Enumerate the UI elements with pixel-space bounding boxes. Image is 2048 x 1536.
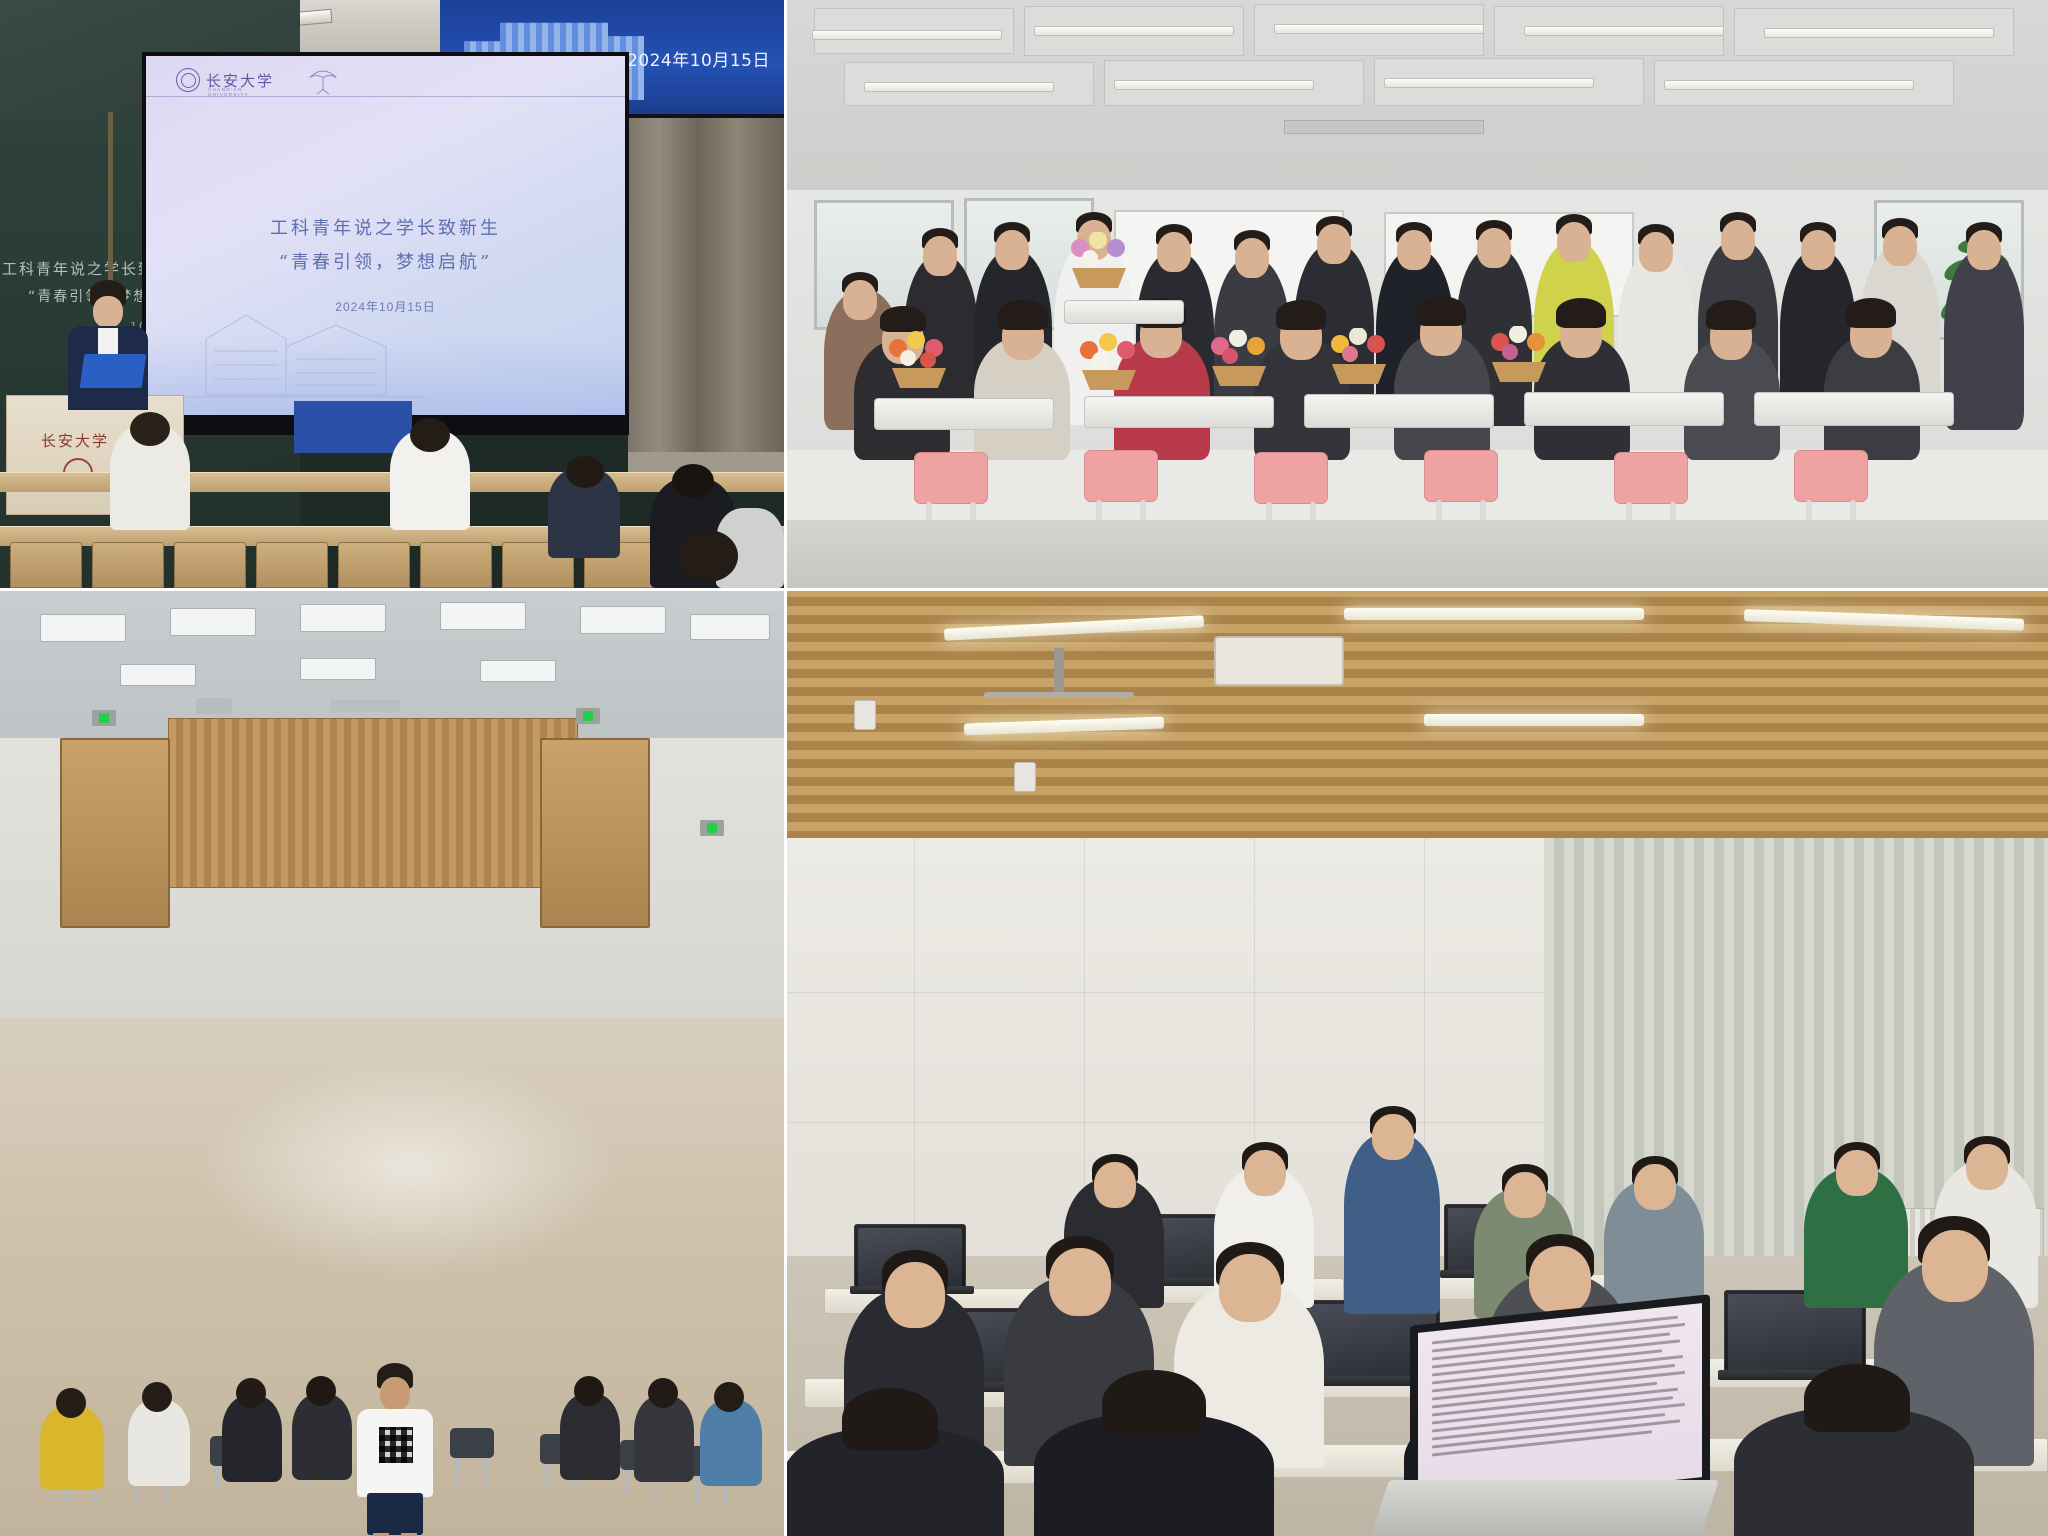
ceiling-panel-light: [300, 658, 376, 680]
person-hair: [998, 300, 1048, 330]
participant-head: [56, 1388, 86, 1418]
person-head: [1801, 230, 1835, 270]
panel-circle-activity: 长安大学 CHANG'AN UNIVERSITY 长安大学 未来交通学院2024…: [0, 588, 784, 1536]
flower-bouquet: [884, 330, 954, 390]
university-seal-icon: [176, 68, 200, 92]
center-speaker: [355, 1363, 435, 1536]
floor-reflection-glow: [200, 1058, 620, 1278]
participant: [292, 1394, 352, 1480]
ceiling-fan-rod: [1054, 648, 1064, 696]
photo-collage: 工科青年说之学长致新生 “青春引领，梦想起航” 10月15日 2024年10月1…: [0, 0, 2048, 1536]
flower-bouquet: [1204, 330, 1274, 390]
chair-back: [1794, 450, 1868, 502]
ceiling-panel-light: [40, 614, 126, 642]
flower-bouquet: [1074, 332, 1144, 392]
student-hair: [842, 1388, 938, 1450]
student-hair: [1102, 1370, 1206, 1436]
participant: [700, 1400, 762, 1486]
ceiling-panel-light: [480, 660, 556, 682]
exit-sign-right: [576, 708, 600, 724]
screen-lower-panel: [294, 401, 412, 453]
student-head: [1836, 1150, 1878, 1196]
chair-back: [1424, 450, 1498, 502]
student-head: [1504, 1172, 1546, 1218]
wall-speaker: [1014, 762, 1036, 792]
table: [1754, 392, 1954, 426]
laptop-keyboard: [1371, 1480, 1719, 1536]
door: [60, 738, 170, 928]
seat: [174, 542, 246, 588]
table: [874, 398, 1054, 430]
ceiling-light-tube: [1344, 608, 1644, 620]
chair-back: [1254, 452, 1328, 504]
seat: [10, 542, 82, 588]
ceiling-light-strip: [1114, 80, 1314, 90]
person-head: [923, 236, 957, 276]
seat: [256, 542, 328, 588]
person-head: [1477, 228, 1511, 268]
table: [1064, 300, 1184, 324]
ceiling-light-strip: [1384, 78, 1594, 88]
panel-lecture-hall: 工科青年说之学长致新生 “青春引领，梦想起航” 10月15日 2024年10月1…: [0, 0, 784, 588]
instructor-head: [1372, 1114, 1414, 1160]
person-head: [1557, 222, 1591, 262]
ceiling-light-strip: [812, 30, 1002, 40]
person-hair: [1416, 296, 1466, 326]
ceiling-fan-blade: [984, 692, 1134, 698]
seat: [338, 542, 410, 588]
seat: [420, 542, 492, 588]
table: [1524, 392, 1724, 426]
lectern-university-name: 长安大学: [41, 430, 109, 451]
participant: [222, 1396, 282, 1482]
student-hair: [1804, 1364, 1910, 1432]
participant: [40, 1406, 104, 1490]
ceiling-light-strip: [1034, 26, 1234, 36]
student-head: [1634, 1164, 1676, 1210]
ceiling-light-tube: [1424, 714, 1644, 726]
person-hair: [1276, 300, 1326, 330]
person-hair: [1846, 298, 1896, 328]
person-hair: [1556, 298, 1606, 328]
wood-wall-panel: [168, 718, 578, 888]
running-man-icon: [583, 711, 593, 721]
participant-head: [648, 1378, 678, 1408]
ceiling-panel-light: [300, 604, 386, 632]
audience-head: [130, 412, 170, 446]
person-head: [843, 280, 877, 320]
person-head: [1721, 220, 1755, 260]
participant-head: [236, 1378, 266, 1408]
collage-divider-horizontal: [0, 588, 2048, 591]
chair: [450, 1428, 496, 1486]
student-head: [1529, 1246, 1591, 1314]
student-head: [1094, 1162, 1136, 1208]
umbrella-icon: [306, 66, 340, 96]
exit-sign-far: [700, 820, 724, 836]
ceiling-vent: [330, 700, 400, 712]
foreground-laptop: [1410, 1310, 1770, 1536]
ceiling-light-strip: [1274, 24, 1484, 34]
projection-screen: 长安大学 CHANG'AN UNIVERSITY 工科青年说之学长致新生 “青春…: [146, 56, 625, 415]
exit-sign-left: [92, 710, 116, 726]
wall-speaker: [854, 700, 876, 730]
chair-back: [1084, 450, 1158, 502]
ceiling-light-strip: [1764, 28, 1994, 38]
wall-panel-seam: [784, 992, 1544, 993]
slide-title-line-1: 工科青年说之学长致新生: [146, 214, 625, 240]
flower-bouquet: [1484, 326, 1554, 386]
student-head: [1966, 1144, 2008, 1190]
person: [1944, 250, 2024, 430]
student-head: [1219, 1254, 1281, 1322]
student-head: [885, 1262, 945, 1328]
ceiling-panel-light: [580, 606, 666, 634]
student-head: [1049, 1248, 1111, 1316]
laptop-document-screen: [1418, 1303, 1702, 1507]
audience-head: [678, 530, 738, 582]
participant-head: [714, 1382, 744, 1412]
participant: [128, 1400, 190, 1486]
ceiling-panel-light: [120, 664, 196, 686]
table: [1304, 394, 1494, 428]
seat: [92, 542, 164, 588]
ceiling-panel-light: [170, 608, 256, 636]
wall-panel-seam: [784, 1122, 1544, 1123]
ceiling-light-strip: [864, 82, 1054, 92]
ceiling-air-conditioner: [1214, 636, 1344, 686]
display-date: 2024年10月15日: [627, 46, 770, 71]
audience-head: [566, 456, 604, 488]
audience-head: [410, 418, 450, 452]
person-hair: [880, 306, 926, 332]
person-head: [1967, 230, 2001, 270]
person-head: [1883, 226, 1917, 266]
participant-head: [574, 1376, 604, 1406]
collage-divider-vertical: [784, 0, 787, 1536]
person-head: [1235, 238, 1269, 278]
participant: [634, 1396, 694, 1482]
flower-bouquet: [1064, 232, 1134, 292]
ceiling-wood-slats: [784, 588, 2048, 838]
student-head: [1922, 1230, 1988, 1302]
standing-instructor: [1344, 1134, 1440, 1314]
person-hair: [1706, 300, 1756, 330]
ceiling-light-strip: [1664, 80, 1914, 90]
person-head: [995, 230, 1029, 270]
student-speaker: [60, 280, 156, 410]
ceiling-light-strip: [1524, 26, 1724, 36]
slide-university-name-en: CHANG'AN UNIVERSITY: [208, 87, 249, 97]
audience-head: [672, 464, 714, 498]
ceiling-vent: [1284, 120, 1484, 134]
wall-speaker: [196, 698, 232, 714]
participant-head: [306, 1376, 336, 1406]
table: [1084, 396, 1274, 428]
ceiling: [0, 588, 784, 738]
projection-screen-frame: 长安大学 CHANG'AN UNIVERSITY 工科青年说之学长致新生 “青春…: [142, 52, 629, 435]
door: [540, 738, 650, 928]
person-head: [1317, 224, 1351, 264]
flower-bouquet: [1324, 328, 1394, 388]
person-head: [1157, 232, 1191, 272]
participant: [560, 1394, 620, 1480]
panel-group-photo: [784, 0, 2048, 588]
person-head: [1397, 230, 1431, 270]
ceiling-panel-light: [440, 602, 526, 630]
wall-panel-seam: [914, 838, 915, 1256]
chair-back: [914, 452, 988, 504]
person-head: [1639, 232, 1673, 272]
running-man-icon: [99, 713, 109, 723]
student-head: [1244, 1150, 1286, 1196]
participant-head: [142, 1382, 172, 1412]
slide-title: 工科青年说之学长致新生 “青春引领，梦想启航”: [146, 214, 625, 274]
ceiling-panel-light: [690, 614, 770, 640]
chair-back: [1614, 452, 1688, 504]
slide-title-line-2: “青春引领，梦想启航”: [146, 248, 625, 274]
running-man-icon: [707, 823, 717, 833]
floor: [784, 520, 2048, 588]
